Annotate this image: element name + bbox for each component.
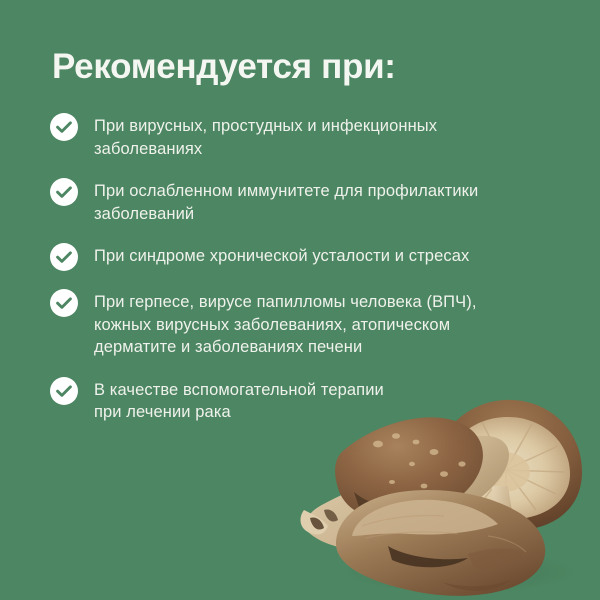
page-title: Рекомендуется при: xyxy=(52,46,396,88)
list-item: При вирусных, простудных и инфекционных … xyxy=(50,115,550,160)
list-item-label: При синдроме хронической усталости и стр… xyxy=(94,245,550,268)
list-item: При герпесе, вирусе папилломы человека (… xyxy=(50,291,550,359)
list-item-label: При герпесе, вирусе папилломы человека (… xyxy=(94,291,550,359)
poster-canvas: Рекомендуется при: При вирусных, простуд… xyxy=(0,0,600,600)
mushroom-front xyxy=(336,490,545,596)
list-item-label: При ослабленном иммунитете для профилакт… xyxy=(94,180,550,225)
list-item-label: В качестве вспомогательной терапии при л… xyxy=(94,379,550,424)
check-circle-icon xyxy=(50,243,78,271)
check-circle-icon xyxy=(50,289,78,317)
list-item: При ослабленном иммунитете для профилакт… xyxy=(50,180,550,225)
check-circle-icon xyxy=(50,178,78,206)
mushroom-left xyxy=(301,417,510,549)
benefit-list: При вирусных, простудных и инфекционных … xyxy=(50,115,550,424)
list-item: При синдроме хронической усталости и стр… xyxy=(50,245,550,271)
list-item: В качестве вспомогательной терапии при л… xyxy=(50,379,550,424)
check-circle-icon xyxy=(50,113,78,141)
list-item-label: При вирусных, простудных и инфекционных … xyxy=(94,115,550,160)
check-circle-icon xyxy=(50,377,78,405)
